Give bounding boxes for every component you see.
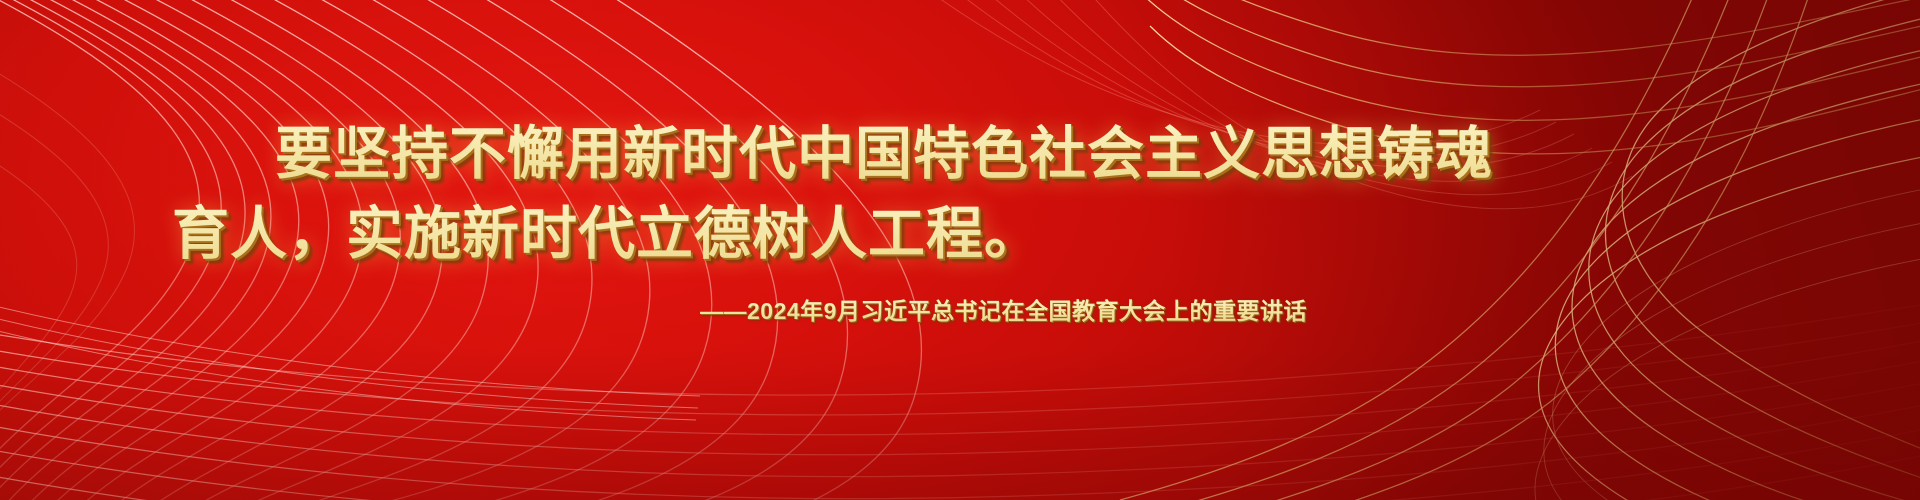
banner-root: 要坚持不懈用新时代中国特色社会主义思想铸魂 育人，实施新时代立德树人工程。 ——… (0, 0, 1920, 500)
attribution-line: ——2024年9月习近平总书记在全国教育大会上的重要讲话 (700, 292, 1307, 326)
headline-block: 要坚持不懈用新时代中国特色社会主义思想铸魂 育人，实施新时代立德树人工程。 ——… (0, 0, 1920, 500)
headline-line-2: 育人，实施新时代立德树人工程。 (172, 188, 1042, 270)
headline-line-1: 要坚持不懈用新时代中国特色社会主义思想铸魂 (275, 108, 1493, 190)
